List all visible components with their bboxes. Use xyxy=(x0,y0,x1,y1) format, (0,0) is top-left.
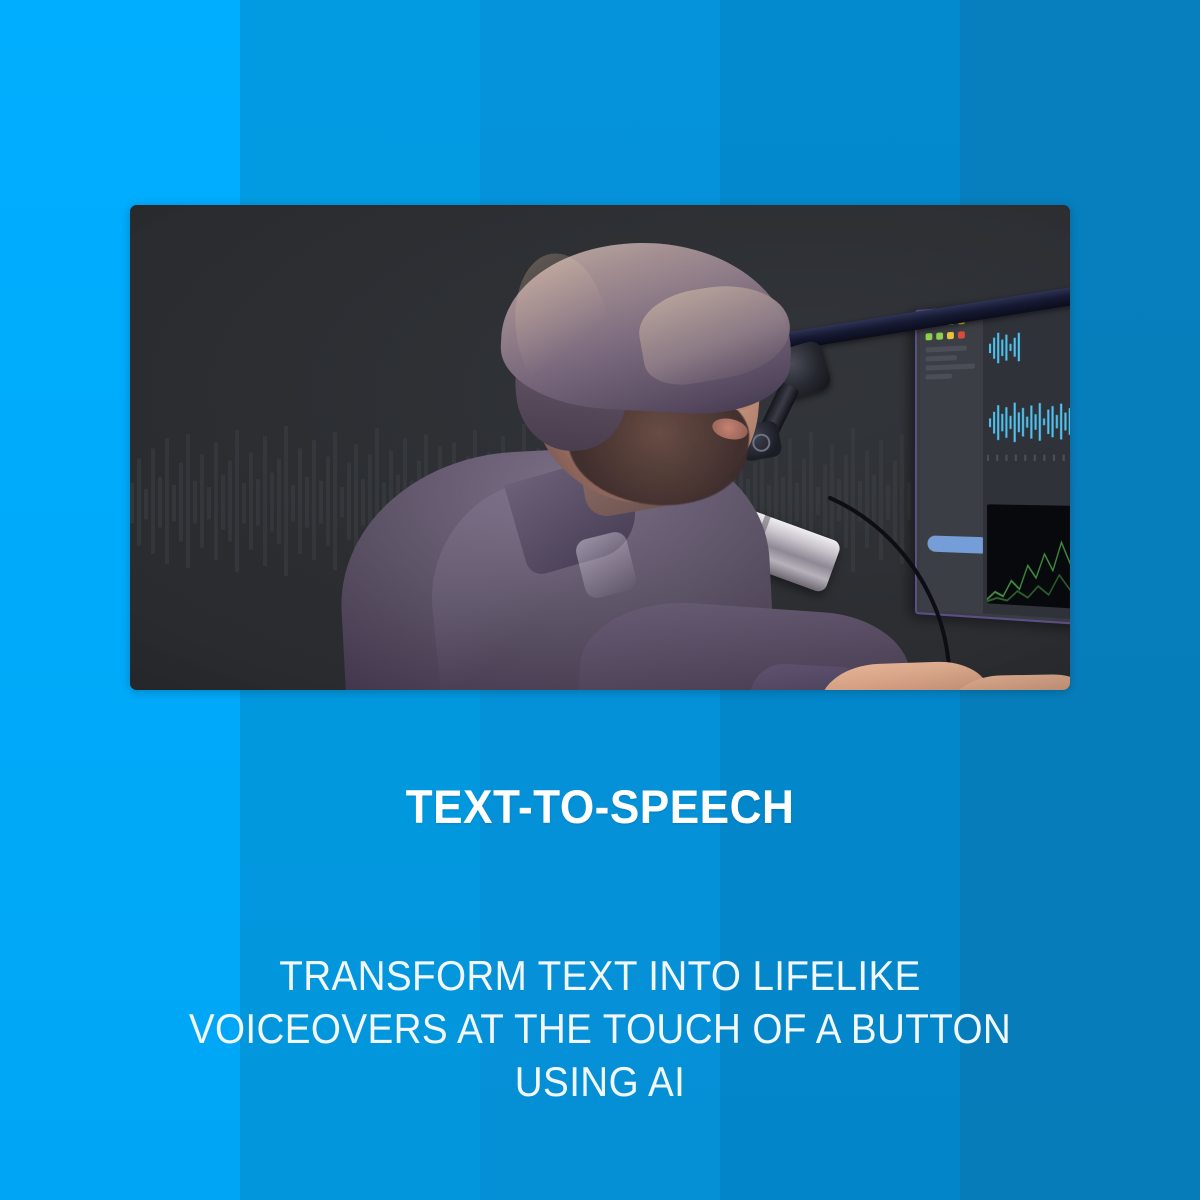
mixer-led-row xyxy=(926,330,981,340)
led-indicator xyxy=(947,332,954,339)
spectrum-svg xyxy=(987,504,1070,609)
subtitle-line-3: USING AI xyxy=(48,1055,1152,1108)
mixer-fader xyxy=(926,374,952,380)
page-subtitle: TRANSFORM TEXT INTO LIFELIKE VOICEOVERS … xyxy=(48,949,1152,1108)
timeline-waveform-top xyxy=(987,325,1070,366)
mixer-fader xyxy=(926,345,967,352)
text-block: TEXT-TO-SPEECH TRANSFORM TEXT INTO LIFEL… xyxy=(0,782,1200,1108)
led-indicator xyxy=(958,331,965,339)
timeline-ruler xyxy=(987,454,1070,461)
mixer-fader xyxy=(926,355,957,361)
text-to-speech-poster: TEXT-TO-SPEECH TRANSFORM TEXT INTO LIFEL… xyxy=(0,0,1200,1200)
spectrum-analyzer xyxy=(987,504,1070,609)
audio-editing-software-monitor xyxy=(915,298,1070,627)
led-indicator xyxy=(936,332,943,339)
mixer-panel xyxy=(920,311,983,614)
audio-clip-block xyxy=(927,535,989,553)
monitor-screen xyxy=(920,303,1070,620)
subtitle-line-2: VOICEOVERS AT THE TOUCH OF A BUTTON xyxy=(48,1002,1152,1055)
mixer-fader xyxy=(926,363,975,370)
subtitle-line-1: TRANSFORM TEXT INTO LIFELIKE xyxy=(48,949,1152,1002)
hero-photo-card xyxy=(130,205,1070,690)
timeline-panel xyxy=(983,303,1070,620)
led-indicator xyxy=(926,333,933,340)
podcast-host-figure xyxy=(280,235,900,690)
page-title: TEXT-TO-SPEECH xyxy=(36,782,1164,831)
timeline-waveform-main xyxy=(987,398,1070,444)
